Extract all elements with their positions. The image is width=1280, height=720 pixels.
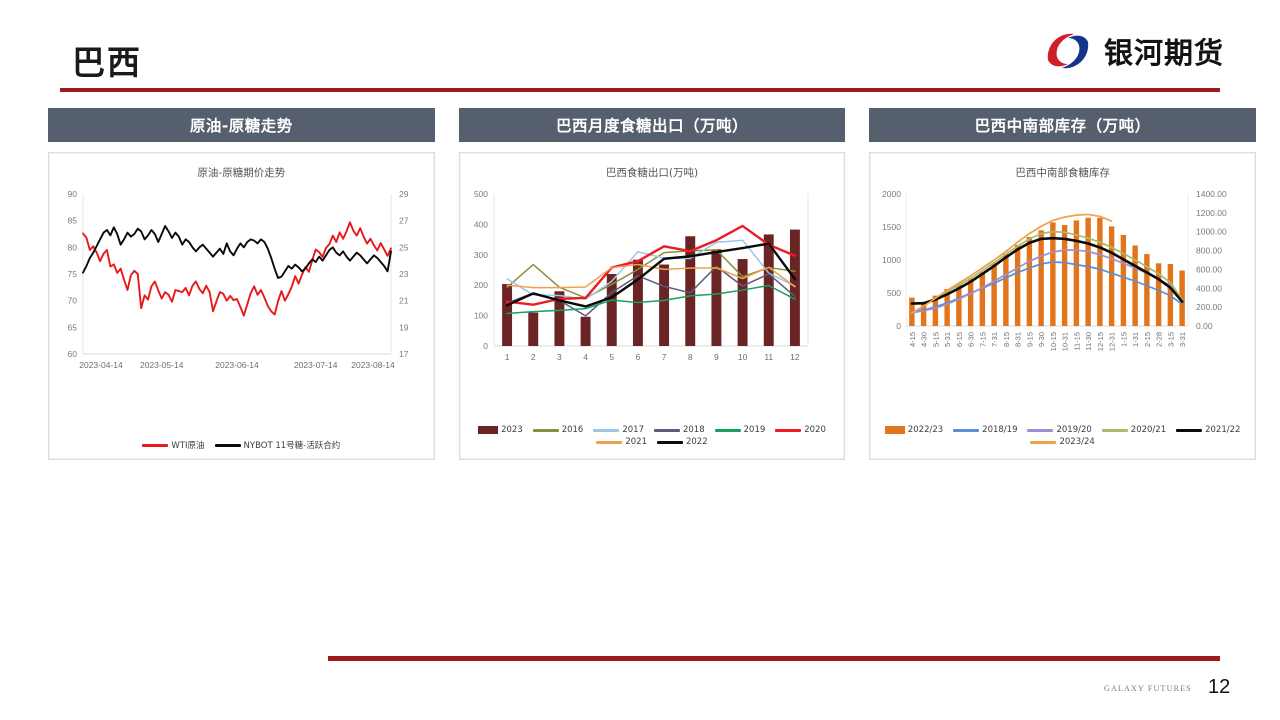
svg-text:1: 1 bbox=[504, 352, 509, 362]
legend-label: 2020/21 bbox=[1131, 425, 1166, 435]
svg-text:85: 85 bbox=[68, 216, 78, 226]
chart-2-svg: 0100200300400500123456789101112 bbox=[460, 186, 836, 386]
legend-swatch bbox=[593, 429, 619, 432]
legend-label: 2021 bbox=[625, 437, 647, 447]
panel-crude-sugar-trend: 原油-原糖走势 原油-原糖期价走势 6065707580859017192123… bbox=[48, 108, 435, 460]
legend-item: 2022/23 bbox=[885, 425, 943, 435]
legend-swatch bbox=[715, 429, 741, 432]
chart-plot-area: 60657075808590171921232527292023-04-1420… bbox=[49, 186, 434, 382]
svg-text:10: 10 bbox=[738, 352, 748, 362]
legend-label: 2019 bbox=[744, 425, 766, 435]
svg-text:25: 25 bbox=[399, 242, 409, 252]
svg-text:400: 400 bbox=[473, 219, 487, 229]
legend-swatch bbox=[654, 429, 680, 432]
svg-text:5-15: 5-15 bbox=[932, 332, 941, 347]
svg-text:2-28: 2-28 bbox=[1155, 332, 1164, 347]
slide: 巴西 银河期货 原油-原糖走势 原油-原糖期价走势 60657075808590… bbox=[0, 0, 1280, 720]
legend-swatch bbox=[885, 426, 905, 434]
legend-label: 2018 bbox=[683, 425, 705, 435]
svg-text:3-31: 3-31 bbox=[1178, 332, 1187, 347]
svg-text:9-15: 9-15 bbox=[1026, 332, 1035, 347]
svg-text:12-15: 12-15 bbox=[1096, 332, 1105, 351]
legend-label: NYBOT 11号糖-活跃合约 bbox=[244, 439, 341, 451]
svg-text:6-15: 6-15 bbox=[955, 332, 964, 347]
panel-row: 原油-原糖走势 原油-原糖期价走势 6065707580859017192123… bbox=[48, 108, 1256, 460]
svg-text:27: 27 bbox=[399, 216, 409, 226]
svg-text:1200.00: 1200.00 bbox=[1196, 208, 1227, 218]
svg-text:7-15: 7-15 bbox=[979, 332, 988, 347]
logo-text: 银河期货 bbox=[1104, 30, 1224, 72]
page-number: 12 bbox=[1208, 676, 1230, 699]
svg-text:2023-04-14: 2023-04-14 bbox=[79, 360, 123, 370]
legend-swatch bbox=[953, 429, 979, 432]
svg-text:3-15: 3-15 bbox=[1167, 332, 1176, 347]
svg-text:8-15: 8-15 bbox=[1002, 332, 1011, 347]
svg-text:300: 300 bbox=[473, 250, 487, 260]
legend-label: 2023 bbox=[501, 425, 523, 435]
panel-monthly-sugar-export: 巴西月度食糖出口（万吨） 巴西食糖出口(万吨) 0100200300400500… bbox=[459, 108, 846, 460]
panel-header: 原油-原糖走势 bbox=[48, 108, 435, 142]
legend-label: 2023/24 bbox=[1059, 437, 1094, 447]
svg-text:60: 60 bbox=[68, 349, 78, 359]
svg-text:21: 21 bbox=[399, 296, 409, 306]
panel-header: 巴西中南部库存（万吨） bbox=[869, 108, 1256, 142]
legend-item: 2018 bbox=[654, 425, 705, 435]
legend-swatch bbox=[215, 444, 241, 447]
svg-text:90: 90 bbox=[68, 189, 78, 199]
legend-swatch bbox=[1176, 429, 1202, 432]
legend-item: 2023 bbox=[478, 425, 523, 435]
page-title: 巴西 bbox=[72, 36, 142, 84]
footer-brand: GALAXY FUTURES bbox=[1104, 684, 1192, 693]
svg-text:4-15: 4-15 bbox=[908, 332, 917, 347]
legend-label: 2022 bbox=[686, 437, 708, 447]
svg-text:0: 0 bbox=[483, 341, 488, 351]
svg-text:11-15: 11-15 bbox=[1073, 332, 1082, 351]
chart-title: 原油-原糖期价走势 bbox=[49, 153, 434, 180]
legend-label: 2021/22 bbox=[1205, 425, 1240, 435]
svg-text:2023-05-14: 2023-05-14 bbox=[140, 360, 184, 370]
svg-text:1400.00: 1400.00 bbox=[1196, 189, 1227, 199]
svg-text:600.00: 600.00 bbox=[1196, 264, 1222, 274]
svg-text:5: 5 bbox=[609, 352, 614, 362]
svg-text:9: 9 bbox=[714, 352, 719, 362]
legend-item: 2016 bbox=[533, 425, 584, 435]
legend-item: 2017 bbox=[593, 425, 644, 435]
svg-text:11: 11 bbox=[764, 352, 773, 362]
legend-item: 2022 bbox=[657, 437, 708, 447]
chart-legend: 20232016201720182019202020212022 bbox=[460, 425, 845, 447]
svg-text:8-31: 8-31 bbox=[1014, 332, 1023, 347]
svg-text:11-30: 11-30 bbox=[1084, 332, 1093, 351]
svg-text:6-30: 6-30 bbox=[967, 332, 976, 347]
legend-item: WTI原油 bbox=[142, 439, 204, 451]
galaxy-swirl-icon bbox=[1044, 30, 1092, 72]
svg-text:800.00: 800.00 bbox=[1196, 246, 1222, 256]
svg-text:400.00: 400.00 bbox=[1196, 283, 1222, 293]
legend-item: 2019 bbox=[715, 425, 766, 435]
panel-body: 巴西食糖出口(万吨) 01002003004005001234567891011… bbox=[459, 152, 846, 460]
svg-text:5-31: 5-31 bbox=[943, 332, 952, 347]
svg-text:65: 65 bbox=[68, 322, 78, 332]
svg-text:10-31: 10-31 bbox=[1061, 332, 1070, 351]
legend-swatch bbox=[533, 429, 559, 432]
legend-swatch bbox=[657, 441, 683, 444]
legend-swatch bbox=[478, 426, 498, 434]
svg-text:6: 6 bbox=[635, 352, 640, 362]
legend-label: 2019/20 bbox=[1056, 425, 1091, 435]
chart-legend: WTI原油NYBOT 11号糖-活跃合约 bbox=[49, 439, 434, 451]
chart-title: 巴西食糖出口(万吨) bbox=[460, 153, 845, 180]
svg-text:1500: 1500 bbox=[882, 222, 901, 232]
legend-swatch bbox=[1102, 429, 1128, 432]
svg-text:100: 100 bbox=[473, 311, 487, 321]
footer-divider bbox=[328, 656, 1220, 661]
svg-text:1-31: 1-31 bbox=[1131, 332, 1140, 347]
svg-text:2: 2 bbox=[531, 352, 536, 362]
legend-item: 2020/21 bbox=[1102, 425, 1166, 435]
panel-header: 巴西月度食糖出口（万吨） bbox=[459, 108, 846, 142]
svg-text:2023-08-14: 2023-08-14 bbox=[351, 360, 395, 370]
svg-text:10-15: 10-15 bbox=[1049, 332, 1058, 351]
legend-label: 2016 bbox=[562, 425, 584, 435]
svg-text:1000.00: 1000.00 bbox=[1196, 227, 1227, 237]
svg-text:3: 3 bbox=[557, 352, 562, 362]
svg-text:12-31: 12-31 bbox=[1108, 332, 1117, 351]
legend-item: NYBOT 11号糖-活跃合约 bbox=[215, 439, 341, 451]
svg-text:7: 7 bbox=[661, 352, 666, 362]
svg-text:70: 70 bbox=[68, 296, 78, 306]
svg-text:2023-06-14: 2023-06-14 bbox=[215, 360, 259, 370]
legend-item: 2020 bbox=[775, 425, 826, 435]
svg-text:80: 80 bbox=[68, 242, 78, 252]
svg-text:0.00: 0.00 bbox=[1196, 321, 1213, 331]
legend-label: 2018/19 bbox=[982, 425, 1017, 435]
legend-item: 2021 bbox=[596, 437, 647, 447]
svg-text:2023-07-14: 2023-07-14 bbox=[294, 360, 338, 370]
svg-text:9-30: 9-30 bbox=[1037, 332, 1046, 347]
svg-text:29: 29 bbox=[399, 189, 409, 199]
panel-body: 巴西中南部食糖库存 05001000150020000.00200.00400.… bbox=[869, 152, 1256, 460]
svg-text:7-31: 7-31 bbox=[990, 332, 999, 347]
svg-text:200.00: 200.00 bbox=[1196, 302, 1222, 312]
legend-item: 2018/19 bbox=[953, 425, 1017, 435]
legend-swatch bbox=[1027, 429, 1053, 432]
panel-body: 原油-原糖期价走势 606570758085901719212325272920… bbox=[48, 152, 435, 460]
title-divider bbox=[60, 88, 1220, 92]
chart-plot-area: 0100200300400500123456789101112 bbox=[460, 186, 845, 382]
legend-item: 2023/24 bbox=[1030, 437, 1094, 447]
legend-label: 2017 bbox=[622, 425, 644, 435]
svg-text:19: 19 bbox=[399, 322, 409, 332]
legend-label: WTI原油 bbox=[171, 439, 204, 451]
svg-text:0: 0 bbox=[897, 321, 902, 331]
legend-label: 2020 bbox=[804, 425, 826, 435]
chart-legend: 2022/232018/192019/202020/212021/222023/… bbox=[870, 425, 1255, 447]
svg-text:200: 200 bbox=[473, 280, 487, 290]
svg-text:75: 75 bbox=[68, 269, 78, 279]
svg-text:12: 12 bbox=[790, 352, 800, 362]
svg-text:2-15: 2-15 bbox=[1143, 332, 1152, 347]
svg-text:1000: 1000 bbox=[882, 255, 901, 265]
legend-item: 2021/22 bbox=[1176, 425, 1240, 435]
chart-title: 巴西中南部食糖库存 bbox=[870, 153, 1255, 180]
company-logo: 银河期货 bbox=[1044, 30, 1224, 72]
svg-text:4-30: 4-30 bbox=[920, 332, 929, 347]
svg-text:8: 8 bbox=[688, 352, 693, 362]
chart-3-svg: 05001000150020000.00200.00400.00600.0080… bbox=[870, 186, 1246, 386]
svg-text:1-15: 1-15 bbox=[1120, 332, 1129, 347]
legend-item: 2019/20 bbox=[1027, 425, 1091, 435]
legend-swatch bbox=[775, 429, 801, 432]
svg-text:2000: 2000 bbox=[882, 189, 901, 199]
svg-text:500: 500 bbox=[473, 189, 487, 199]
svg-text:4: 4 bbox=[583, 352, 588, 362]
chart-plot-area: 05001000150020000.00200.00400.00600.0080… bbox=[870, 186, 1255, 382]
legend-swatch bbox=[596, 441, 622, 444]
chart-1-svg: 60657075808590171921232527292023-04-1420… bbox=[49, 186, 425, 386]
legend-label: 2022/23 bbox=[908, 425, 943, 435]
legend-swatch bbox=[1030, 441, 1056, 444]
legend-swatch bbox=[142, 444, 168, 447]
svg-text:500: 500 bbox=[887, 288, 901, 298]
svg-text:23: 23 bbox=[399, 269, 409, 279]
svg-text:17: 17 bbox=[399, 349, 409, 359]
panel-cs-brazil-stocks: 巴西中南部库存（万吨） 巴西中南部食糖库存 05001000150020000.… bbox=[869, 108, 1256, 460]
